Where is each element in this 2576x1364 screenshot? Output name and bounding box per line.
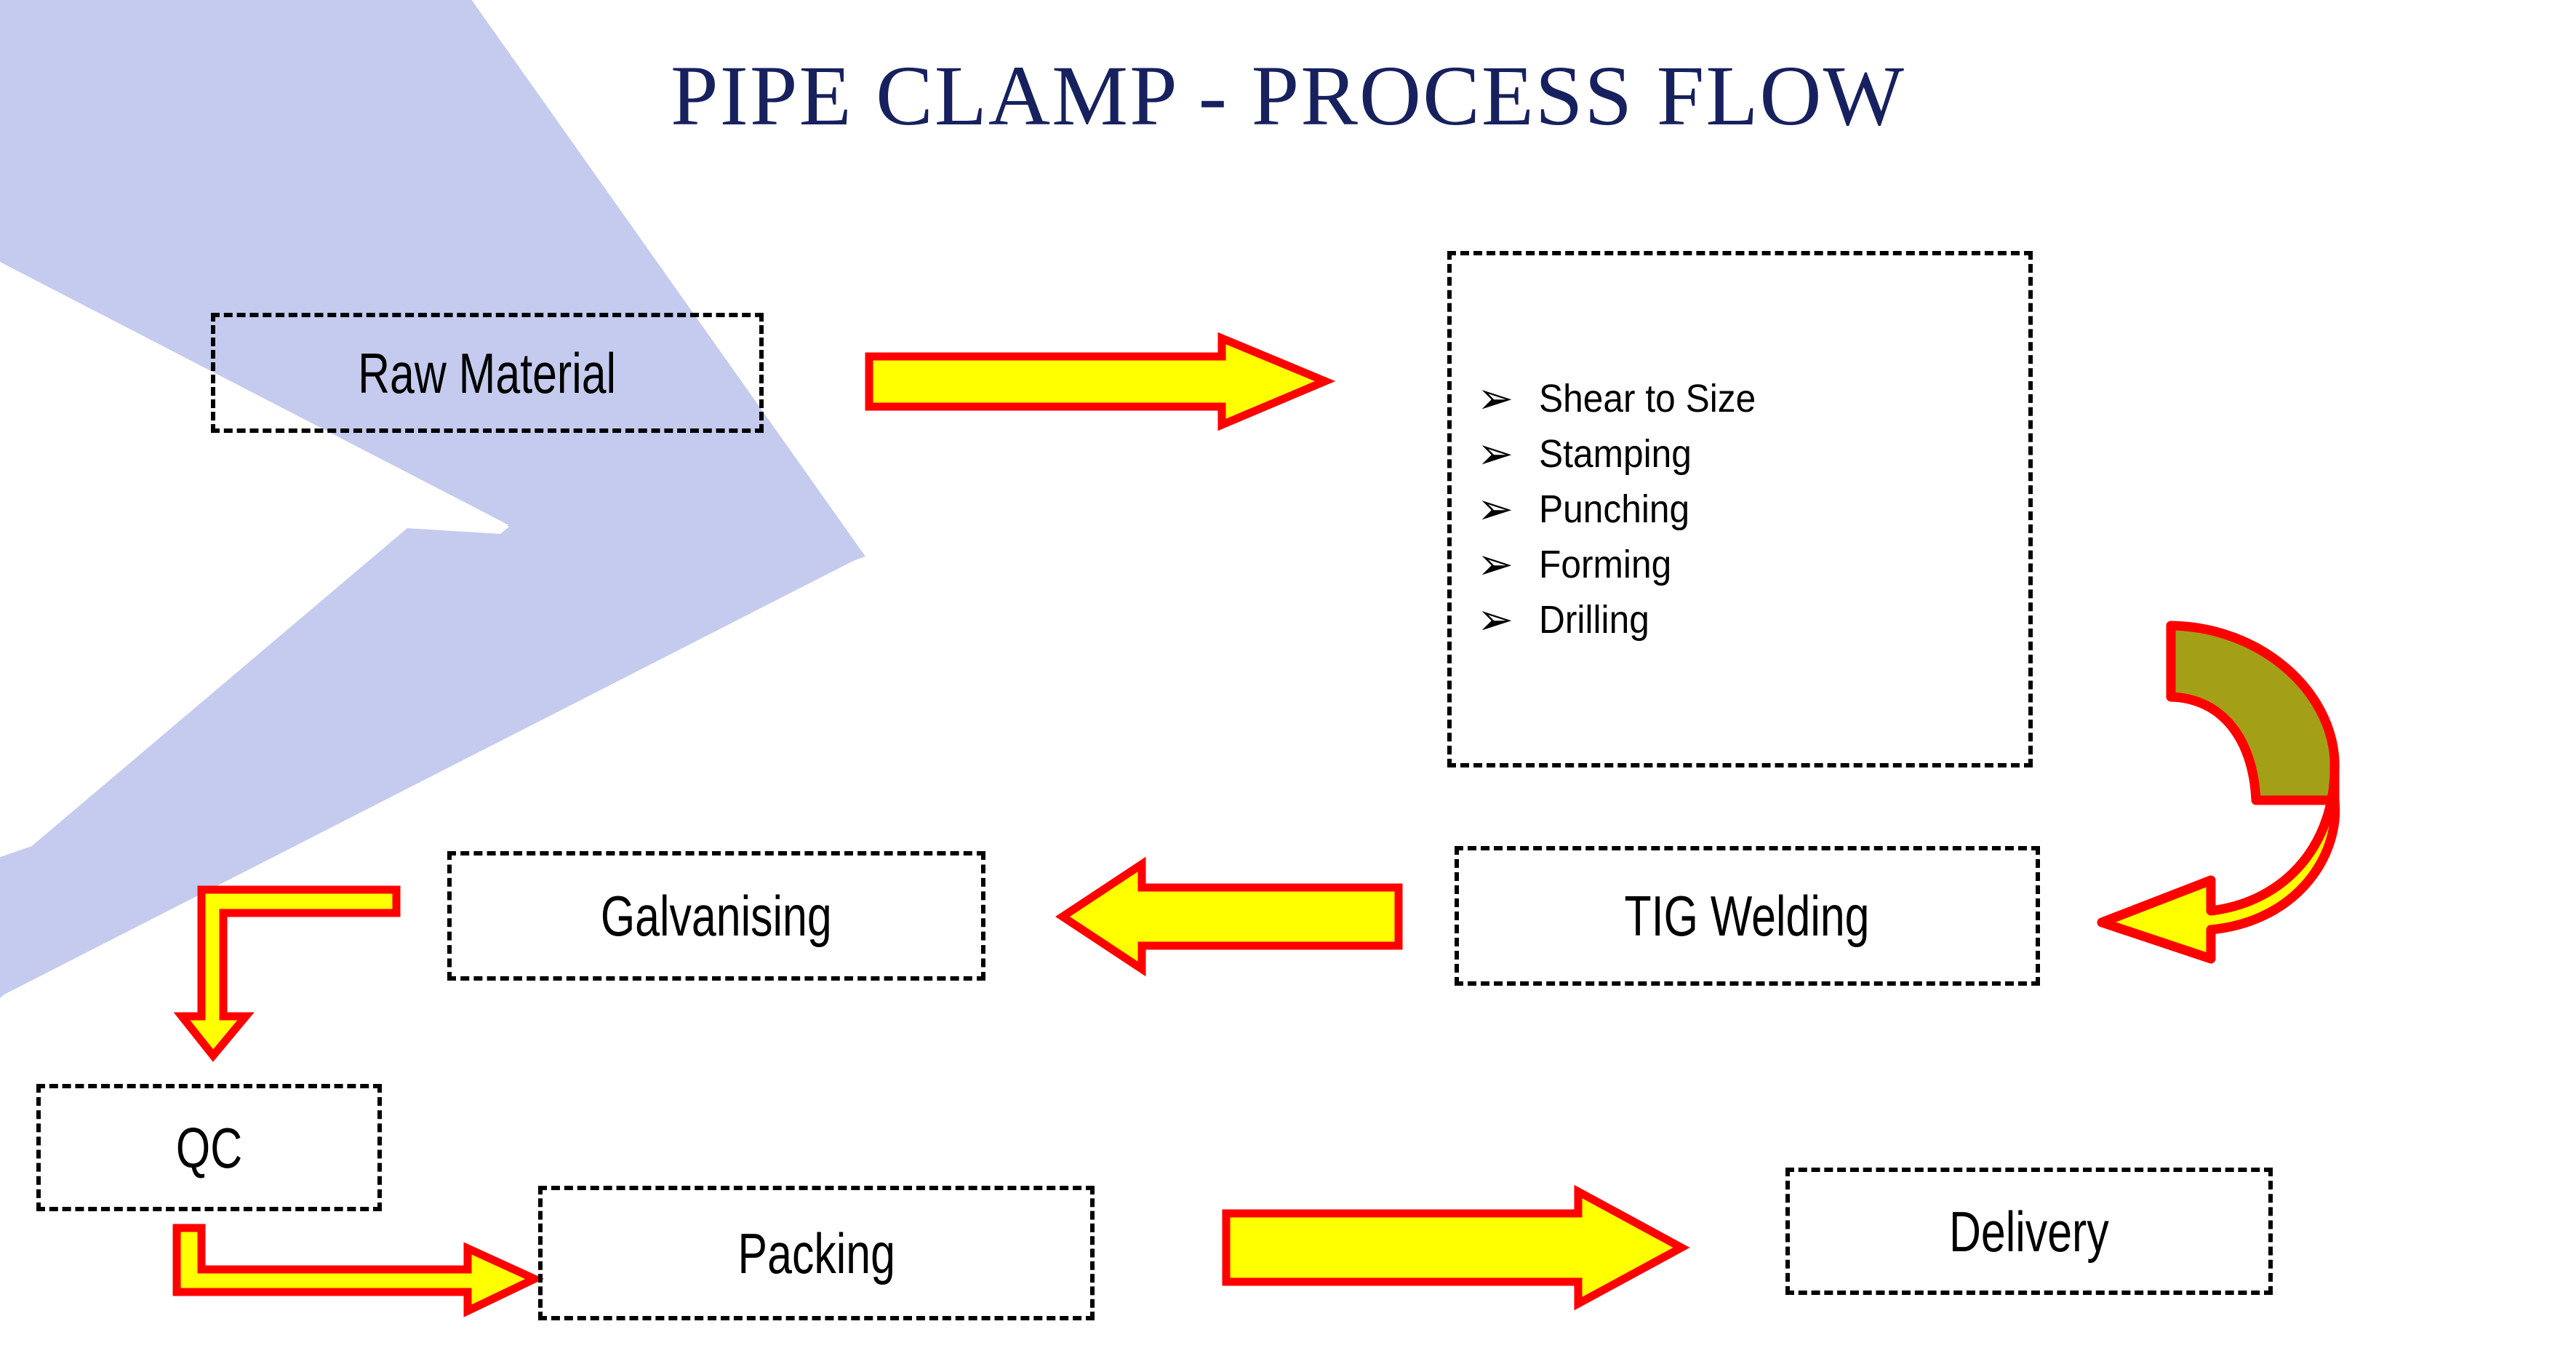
process-box-galvanising[interactable]: Galvanising — [447, 851, 985, 981]
arrow-raw-material-to-operations — [865, 335, 1331, 429]
process-box-qc[interactable]: QC — [36, 1084, 382, 1211]
process-box-packing[interactable]: Packing — [538, 1186, 1095, 1320]
arrowhead-bullet-icon: ➢ — [1452, 543, 1539, 586]
arrow-tig-welding-to-galvanising — [1058, 858, 1404, 975]
process-box-raw-material[interactable]: Raw Material — [211, 313, 764, 433]
operation-label: Drilling — [1539, 600, 1649, 639]
process-box-delivery[interactable]: Delivery — [1785, 1168, 2273, 1295]
operation-label: Forming — [1539, 545, 1671, 584]
arrow-qc-to-packing-elbow — [171, 1222, 542, 1339]
arrow-packing-to-delivery — [1222, 1186, 1687, 1309]
list-item[interactable]: ➢ Shear to Size — [1452, 376, 2028, 421]
process-box-tig-welding[interactable]: TIG Welding — [1455, 846, 2040, 986]
operation-label: Shear to Size — [1539, 379, 1756, 418]
process-box-label: Delivery — [1949, 1203, 2109, 1260]
process-box-label: Galvanising — [601, 888, 832, 944]
list-item[interactable]: ➢ Stamping — [1452, 431, 2028, 476]
arrow-galvanising-to-qc-elbow — [175, 884, 407, 1066]
arrowhead-bullet-icon: ➢ — [1452, 487, 1539, 531]
process-box-label: QC — [176, 1120, 242, 1176]
process-box-label: TIG Welding — [1625, 888, 1870, 944]
list-item[interactable]: ➢ Drilling — [1452, 597, 2028, 642]
arrow-operations-to-tig-welding-curved — [2095, 582, 2415, 960]
operation-label: Punching — [1539, 490, 1689, 529]
arrowhead-bullet-icon: ➢ — [1452, 377, 1539, 420]
arrowhead-bullet-icon: ➢ — [1452, 432, 1539, 476]
process-box-label: Raw Material — [358, 345, 616, 402]
list-item[interactable]: ➢ Forming — [1452, 542, 2028, 587]
process-flow-slide: PIPE CLAMP - PROCESS FLOW Raw Material ➢… — [0, 0, 2576, 1364]
page-title: PIPE CLAMP - PROCESS FLOW — [0, 51, 2576, 141]
list-item[interactable]: ➢ Punching — [1452, 487, 2028, 532]
operation-label: Stamping — [1539, 434, 1692, 474]
process-box-label: Packing — [737, 1225, 895, 1282]
arrowhead-bullet-icon: ➢ — [1452, 598, 1539, 642]
operations-list-box[interactable]: ➢ Shear to Size ➢ Stamping ➢ Punching ➢ … — [1447, 251, 2033, 767]
